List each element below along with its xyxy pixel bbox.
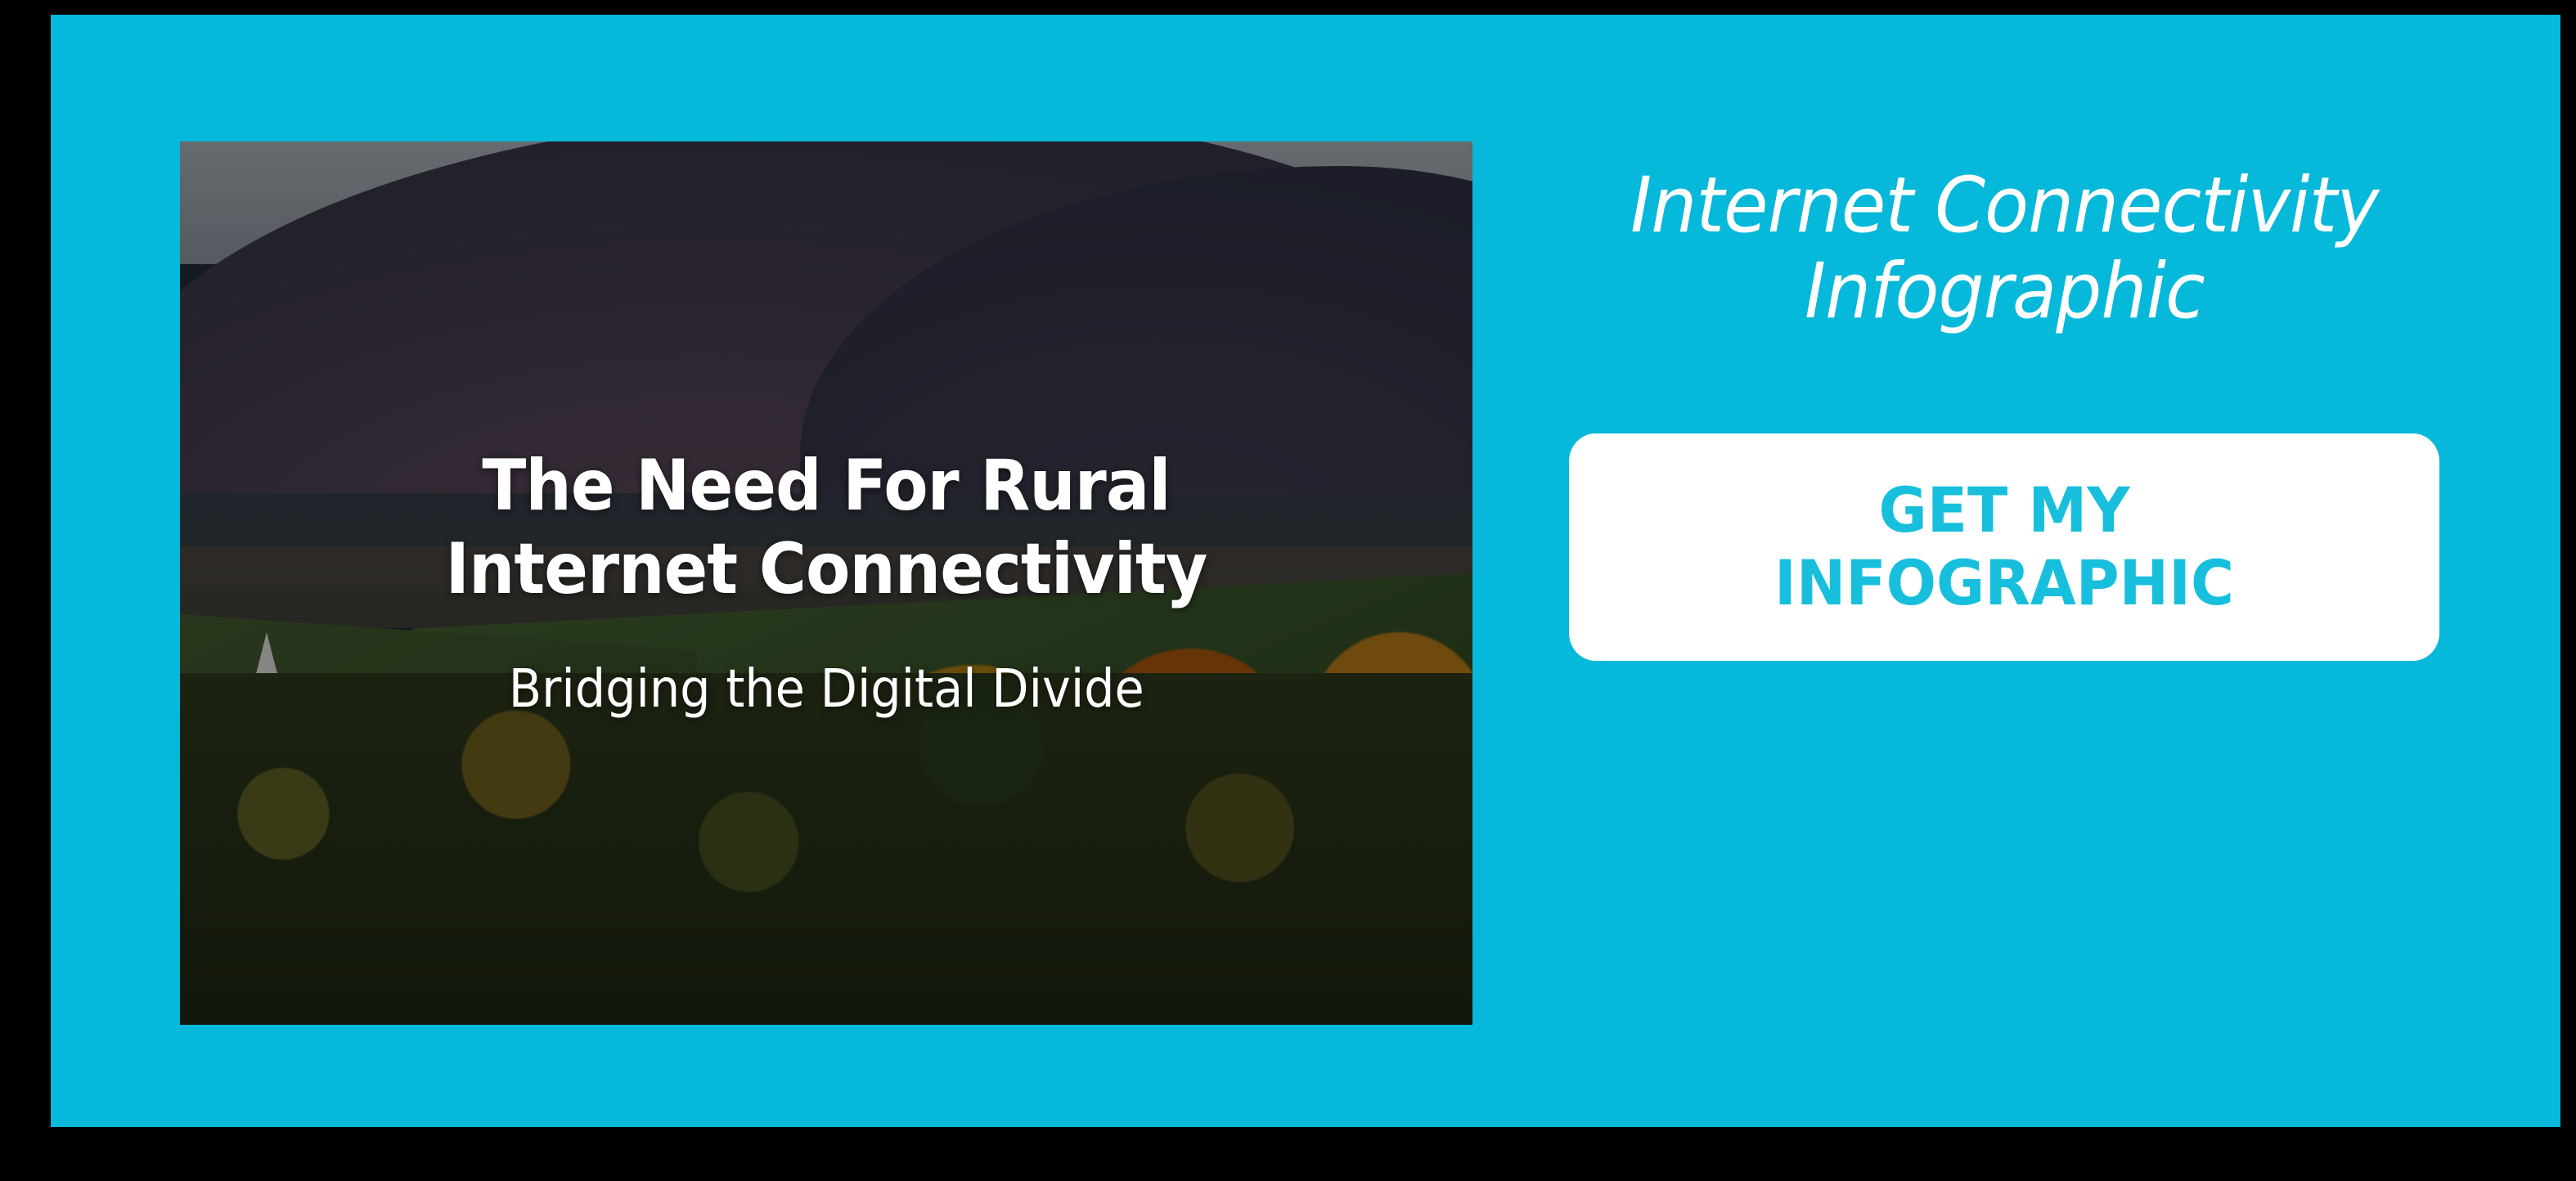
cta-banner: The Need For Rural Internet Connectivity… (51, 15, 2560, 1127)
cta-button-line-2: INFOGRAPHIC (1774, 547, 2234, 619)
hero-title: The Need For Rural Internet Connectivity (446, 445, 1207, 611)
get-my-infographic-button[interactable]: GET MY INFOGRAPHIC (1569, 433, 2439, 661)
cta-heading: Internet Connectivity Infographic (1630, 163, 2378, 335)
hero-title-line-2: Internet Connectivity (446, 528, 1207, 610)
hero-title-line-1: The Need For Rural (482, 445, 1170, 527)
hero-subtitle: Bridging the Digital Divide (509, 658, 1144, 721)
cta-heading-line-2: Infographic (1805, 247, 2205, 336)
cta-content: Internet Connectivity Infographic GET MY… (1546, 128, 2462, 1012)
hero-caption: The Need For Rural Internet Connectivity… (180, 141, 1472, 1025)
cta-button-line-1: GET MY (1878, 474, 2129, 546)
cta-heading-line-1: Internet Connectivity (1630, 161, 2378, 250)
rural-landscape-photo: The Need For Rural Internet Connectivity… (180, 141, 1472, 1025)
